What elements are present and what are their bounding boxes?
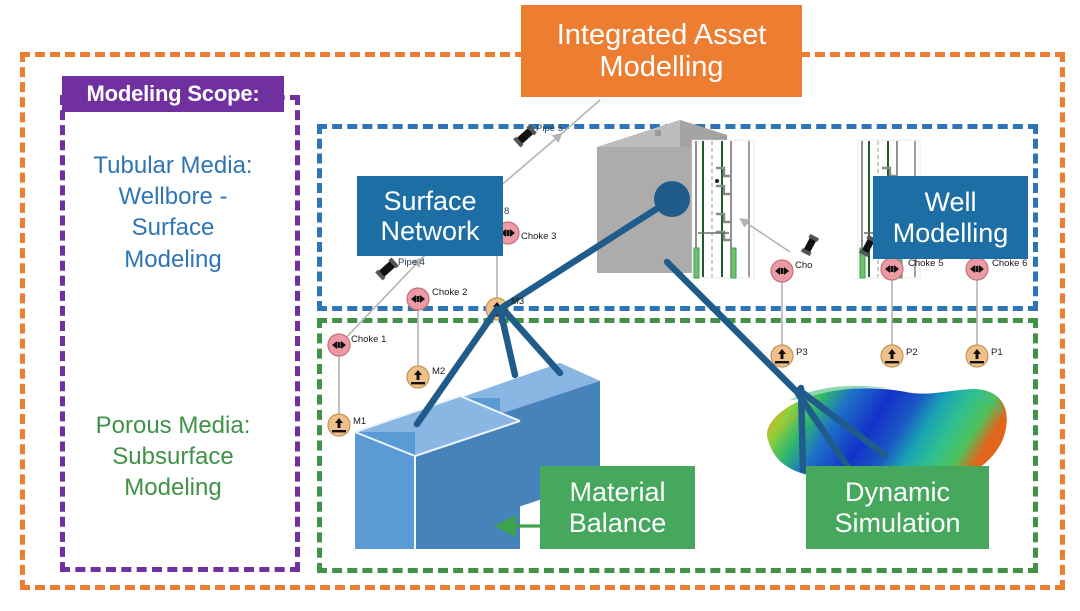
porous-media-description: Porous Media: Subsurface Modeling bbox=[62, 410, 284, 504]
label-p2: P2 bbox=[906, 347, 918, 358]
material-balance-box: Material Balance bbox=[540, 466, 695, 549]
tubular-media-label: Tubular Media: Wellbore - Surface Modeli… bbox=[93, 152, 252, 273]
label-choke5: Choke 5 bbox=[908, 258, 943, 269]
label-m3: M3 bbox=[511, 296, 524, 307]
tank-front bbox=[355, 396, 520, 549]
dynamic-simulation-label: Dynamic Simulation bbox=[834, 477, 960, 537]
label-p3: P3 bbox=[796, 347, 808, 358]
label-m1: M1 bbox=[353, 416, 366, 427]
label-m2: M2 bbox=[432, 366, 445, 377]
well-modelling-label: Well Modelling bbox=[893, 187, 1009, 247]
label-pipe4: Pipe 4 bbox=[398, 257, 425, 268]
label-pipe5: Pipe 5 bbox=[536, 123, 563, 134]
tubular-media-description: Tubular Media: Wellbore - Surface Modeli… bbox=[62, 150, 284, 275]
modeling-scope-label: Modeling Scope: bbox=[86, 82, 259, 107]
iam-title-line1: Integrated Asset bbox=[557, 19, 767, 51]
label-pipe8: 8 bbox=[504, 206, 509, 217]
well-modelling-box: Well Modelling bbox=[873, 176, 1028, 259]
integrated-asset-modelling-title: Integrated Asset Modelling bbox=[521, 5, 802, 97]
modeling-scope-header: Modeling Scope: bbox=[62, 76, 284, 112]
label-choke2: Choke 2 bbox=[432, 287, 467, 298]
surface-network-box: Surface Network bbox=[357, 176, 503, 256]
dynamic-simulation-box: Dynamic Simulation bbox=[806, 466, 989, 549]
surface-network-label: Surface Network bbox=[380, 186, 479, 246]
label-choke6: Choke 6 bbox=[992, 258, 1027, 269]
wellbore-schematic-1 bbox=[692, 140, 754, 278]
porous-media-label: Porous Media: Subsurface Modeling bbox=[96, 412, 251, 501]
label-choke4: Cho bbox=[795, 260, 812, 271]
label-p1: P1 bbox=[991, 347, 1003, 358]
material-balance-label: Material Balance bbox=[569, 477, 667, 537]
integration-hub-node bbox=[654, 181, 690, 217]
label-choke1: Choke 1 bbox=[351, 334, 386, 345]
iam-title-line2: Modelling bbox=[599, 51, 723, 83]
diagram-canvas: Pipe 5 Pipe 4 8 Choke 1 Choke 2 Choke 3 … bbox=[0, 0, 1080, 611]
label-choke3: Choke 3 bbox=[521, 231, 556, 242]
